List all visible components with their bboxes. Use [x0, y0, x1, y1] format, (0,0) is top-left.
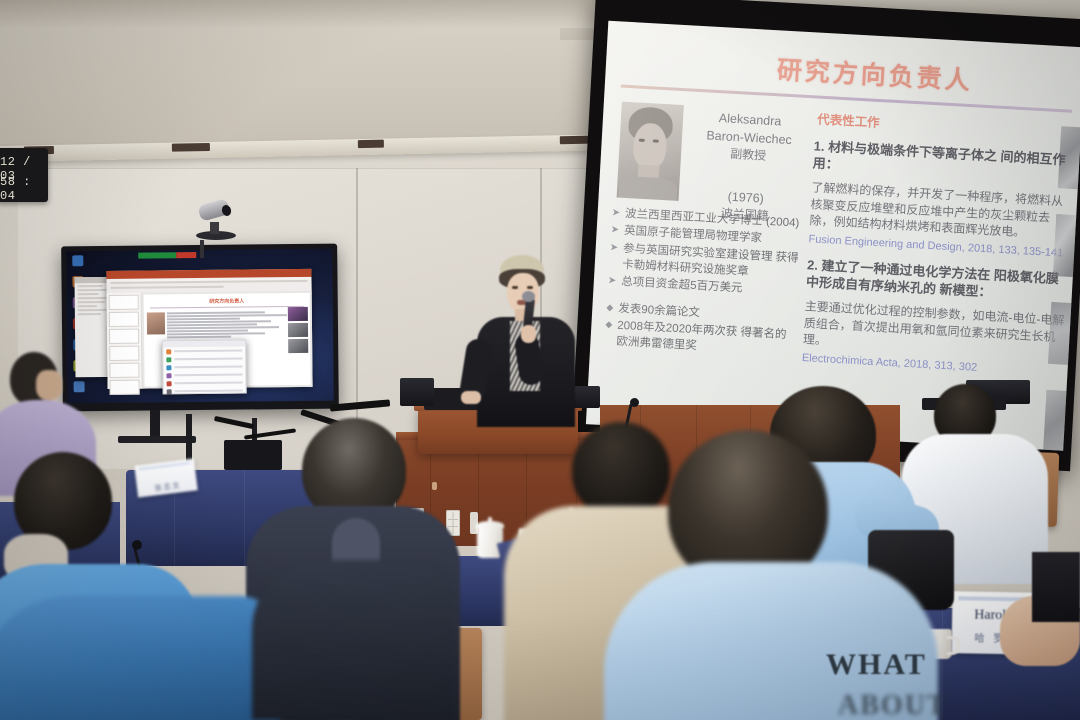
microphone-head-icon — [522, 291, 535, 302]
person-name-block: Aleksandra Baron-Wiechec 副教授 (1976) 波兰国籍 — [685, 108, 809, 228]
slide-title: 研究方向负责人 — [675, 45, 1074, 103]
person-arm-dark — [1032, 552, 1080, 622]
conference-photo: 12 / 03 58 : 04 研究方向负责人 — [0, 0, 1080, 720]
slide-bullet-list: ➤波兰西里西亚工业大学博士 (2004) ➤英国原子能管理局物理学家 ➤参与英国… — [604, 205, 802, 361]
chat-avatar — [166, 357, 171, 362]
foreground-blue-jacket — [0, 596, 280, 720]
mini-image-column — [288, 307, 309, 355]
wall-clock: 12 / 03 58 : 04 — [0, 148, 48, 202]
work-item-1-title: 材料与极端条件下等离子体之 间的相互作用： — [812, 139, 1066, 172]
micrograph-image — [1058, 126, 1080, 189]
work-item-2-number: 2. — [807, 257, 819, 273]
mini-portrait — [147, 312, 165, 334]
work-item-1-heading: 1. 材料与极端条件下等离子体之 间的相互作用： — [812, 137, 1074, 186]
chat-avatar — [167, 389, 172, 394]
slide-thumbnail[interactable] — [110, 380, 140, 395]
chat-panel-window[interactable] — [162, 340, 247, 395]
laptop-screen[interactable] — [400, 378, 434, 406]
slide-thumbnail[interactable] — [109, 346, 139, 361]
ceiling-shadow — [0, 0, 640, 28]
clock-time: 58 : 04 — [0, 175, 45, 191]
slide-thumbnail[interactable] — [109, 329, 139, 344]
diamond-bullet-icon: ◆ — [604, 317, 613, 350]
conference-camera-arm — [210, 222, 219, 234]
tripod-pole — [200, 240, 204, 258]
flat-screen-tv: 研究方向负责人 — [61, 244, 339, 412]
work-item-1-number: 1. — [813, 138, 825, 154]
mini-text-block — [167, 311, 307, 339]
speaker-person — [455, 255, 605, 430]
chat-avatar — [166, 349, 171, 354]
slide-thumbnail[interactable] — [109, 295, 139, 310]
powerpoint-titlebar[interactable] — [106, 269, 311, 279]
arrow-bullet-icon: ➤ — [608, 240, 618, 273]
speaker-left-hand — [461, 391, 481, 404]
mini-slide-title: 研究方向负责人 — [144, 297, 310, 306]
representative-work-heading: 代表性工作 — [817, 109, 1076, 142]
slide-thumbnail[interactable] — [109, 312, 139, 327]
tshirt-text-line1: WHAT — [826, 648, 927, 682]
chat-avatar — [167, 381, 172, 386]
tv-stand-neck — [150, 410, 160, 438]
clock-date: 12 / 03 — [0, 155, 45, 171]
arrow-bullet-icon: ➤ — [610, 223, 619, 240]
slide-left-column: Aleksandra Baron-Wiechec 副教授 (1976) 波兰国籍… — [596, 97, 806, 435]
slide-thumbnail[interactable] — [109, 363, 139, 378]
chat-avatar — [166, 373, 171, 378]
work-item-2-heading: 2. 建立了一种通过电化学方法在 阳极氧化膜中形成自有序纳米孔的 新模型： — [806, 256, 1068, 305]
microphone-capsule-icon — [630, 398, 639, 407]
tv-screen: 研究方向负责人 — [66, 249, 334, 404]
speaker-hand — [521, 325, 536, 343]
work-item-2-title: 建立了一种通过电化学方法在 阳极氧化膜中形成自有序纳米孔的 新模型： — [806, 258, 1060, 300]
portrait-photo — [617, 102, 684, 201]
chat-avatar — [166, 365, 171, 370]
diamond-bullet-icon: ◆ — [606, 300, 614, 317]
arrow-bullet-icon: ➤ — [611, 205, 620, 222]
tshirt-text-line2: ABOUT — [838, 690, 948, 720]
tv-stand-base — [118, 436, 196, 443]
foreground-dark-suit — [252, 560, 452, 720]
slide-thumbnail-panel[interactable] — [107, 293, 143, 389]
arrow-bullet-icon: ➤ — [607, 273, 616, 290]
desktop-icon[interactable] — [72, 255, 83, 266]
screen-share-banner — [138, 252, 196, 259]
